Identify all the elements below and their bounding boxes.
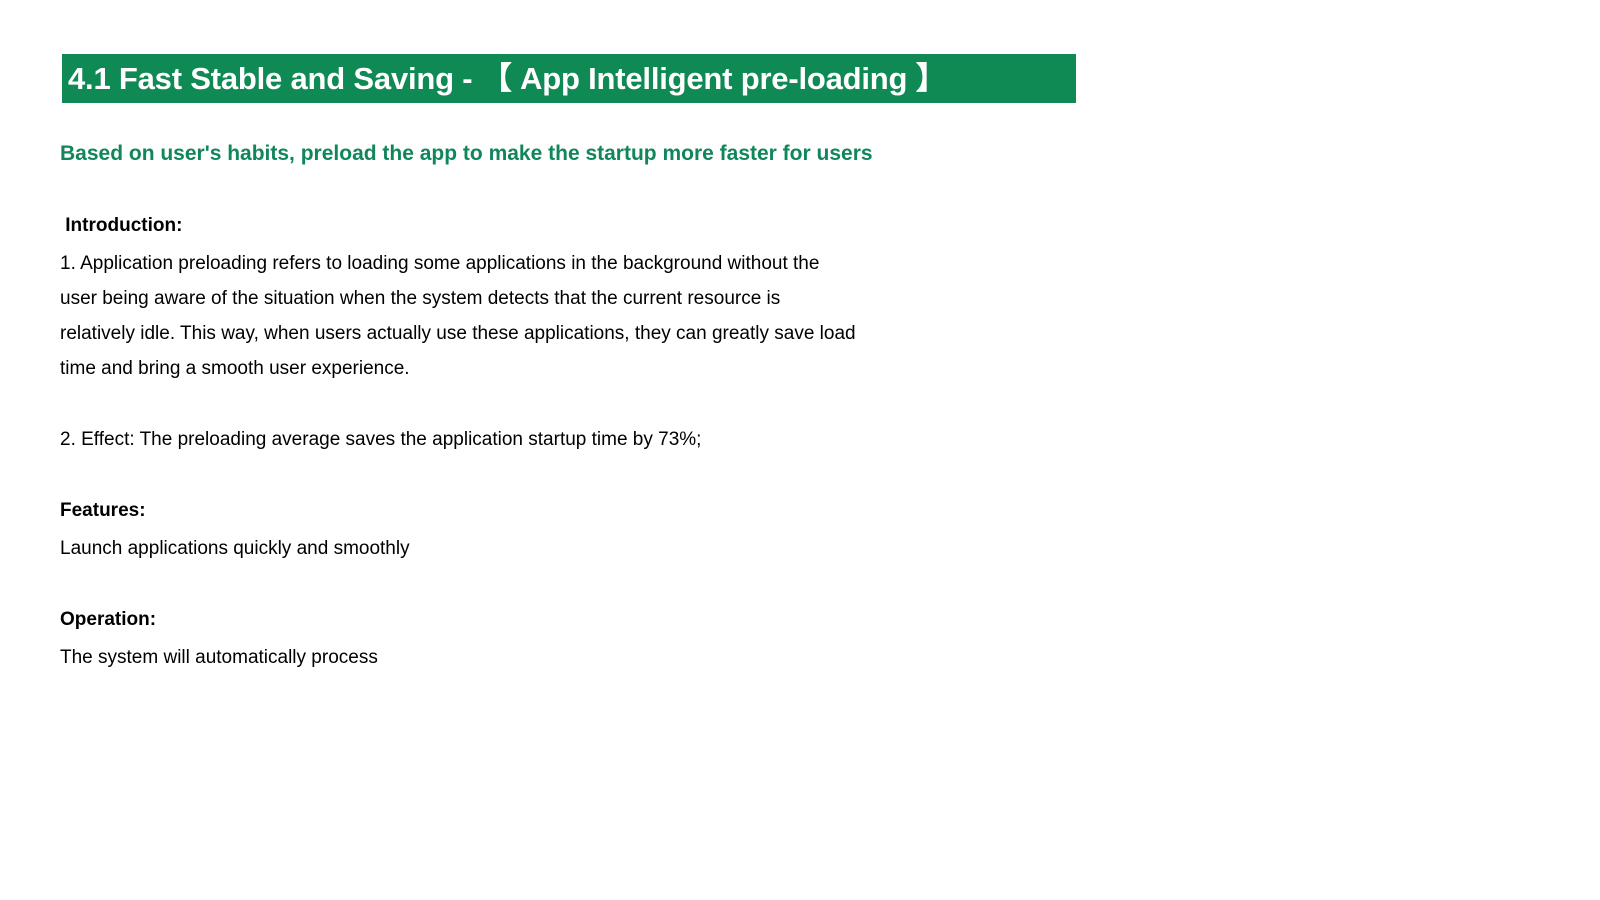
- spacer: [60, 386, 1000, 422]
- introduction-point1-line2: user being aware of the situation when t…: [60, 281, 1000, 316]
- content-body: Introduction: 1. Application preloading …: [60, 210, 1000, 675]
- subtitle-tagline: Based on user's habits, preload the app …: [60, 141, 873, 167]
- spacer: [60, 457, 1000, 495]
- page-title: 4.1 Fast Stable and Saving - 【 App Intel…: [68, 63, 947, 94]
- introduction-point1-line1: 1. Application preloading refers to load…: [60, 246, 1000, 281]
- introduction-point1-line3: relatively idle. This way, when users ac…: [60, 316, 1000, 351]
- features-heading: Features:: [60, 495, 1000, 527]
- title-banner: 4.1 Fast Stable and Saving - 【 App Intel…: [62, 54, 1076, 103]
- spacer: [60, 566, 1000, 604]
- introduction-point2: 2. Effect: The preloading average saves …: [60, 422, 1000, 457]
- features-body: Launch applications quickly and smoothly: [60, 531, 1000, 566]
- introduction-point1-line4: time and bring a smooth user experience.: [60, 351, 1000, 386]
- operation-heading: Operation:: [60, 604, 1000, 636]
- slide-canvas: 4.1 Fast Stable and Saving - 【 App Intel…: [0, 0, 1600, 900]
- introduction-heading: Introduction:: [60, 210, 1000, 242]
- operation-body: The system will automatically process: [60, 640, 1000, 675]
